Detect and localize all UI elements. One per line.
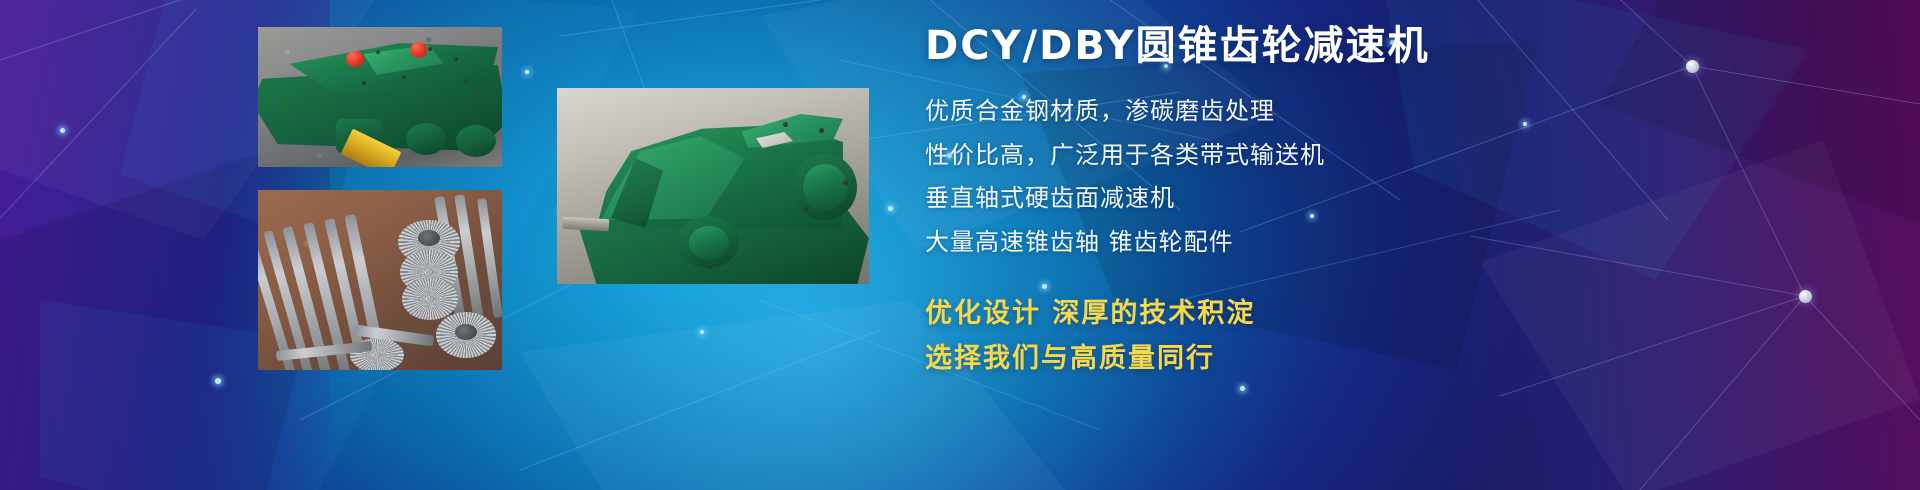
gearbox-side-flange-face <box>803 164 847 210</box>
gearbox-bolt <box>376 50 380 54</box>
gearbox-bolt <box>428 47 432 51</box>
gearbox-bolt <box>843 180 848 185</box>
gearbox-red-breather-cap <box>346 51 364 67</box>
background-spark <box>888 206 893 211</box>
bevel-gear-hub <box>455 324 477 340</box>
gearbox-bolt <box>402 75 406 79</box>
bevel-gear-hub <box>418 230 440 246</box>
gearbox-bolt <box>454 57 458 61</box>
photo-green-gearbox-top-view <box>258 27 502 167</box>
gearbox-lower-bearing-face <box>689 226 729 260</box>
photo-green-gearbox-assembled <box>557 88 869 284</box>
feature-item: 大量高速锥齿轴 锥齿轮配件 <box>925 221 1645 265</box>
background-spark <box>215 378 221 384</box>
background-spark <box>700 330 704 334</box>
gearbox-input-shaft <box>563 217 610 231</box>
gearbox-red-breather-cap <box>410 42 427 58</box>
photo-bevel-gear-shafts-parts <box>258 190 502 370</box>
gearbox-bolt <box>464 79 468 83</box>
gearbox-bolt <box>362 81 366 85</box>
gearbox-bolt <box>707 264 712 269</box>
slogan-item: 优化设计 深厚的技术积淀 <box>925 291 1645 336</box>
network-node <box>1799 290 1812 303</box>
network-node <box>1686 60 1699 73</box>
feature-list: 优质合金钢材质，渗碳磨齿处理 性价比高，广泛用于各类带式输送机 垂直轴式硬齿面减… <box>925 90 1645 265</box>
slogan-list: 优化设计 深厚的技术积淀 选择我们与高质量同行 <box>925 291 1645 382</box>
gearbox-bolt <box>803 206 808 211</box>
background-spark <box>525 70 529 74</box>
gearbox-flange-right <box>456 125 496 157</box>
gearbox-bolt <box>819 128 824 133</box>
product-banner: DCY/DBY圆锥齿轮减速机 优质合金钢材质，渗碳磨齿处理 性价比高，广泛用于各… <box>0 0 1920 490</box>
bevel-gear <box>402 278 458 320</box>
feature-item: 性价比高，广泛用于各类带式输送机 <box>925 134 1645 178</box>
gearbox-flange-mid <box>406 123 446 155</box>
slogan-item: 选择我们与高质量同行 <box>925 336 1645 381</box>
banner-copy: DCY/DBY圆锥齿轮减速机 优质合金钢材质，渗碳磨齿处理 性价比高，广泛用于各… <box>925 26 1645 381</box>
background-spark <box>1240 386 1245 391</box>
background-spark <box>60 128 65 133</box>
gearbox-bolt <box>783 122 788 127</box>
feature-item: 优质合金钢材质，渗碳磨齿处理 <box>925 90 1645 134</box>
feature-item: 垂直轴式硬齿面减速机 <box>925 177 1645 221</box>
page-title: DCY/DBY圆锥齿轮减速机 <box>925 26 1645 66</box>
